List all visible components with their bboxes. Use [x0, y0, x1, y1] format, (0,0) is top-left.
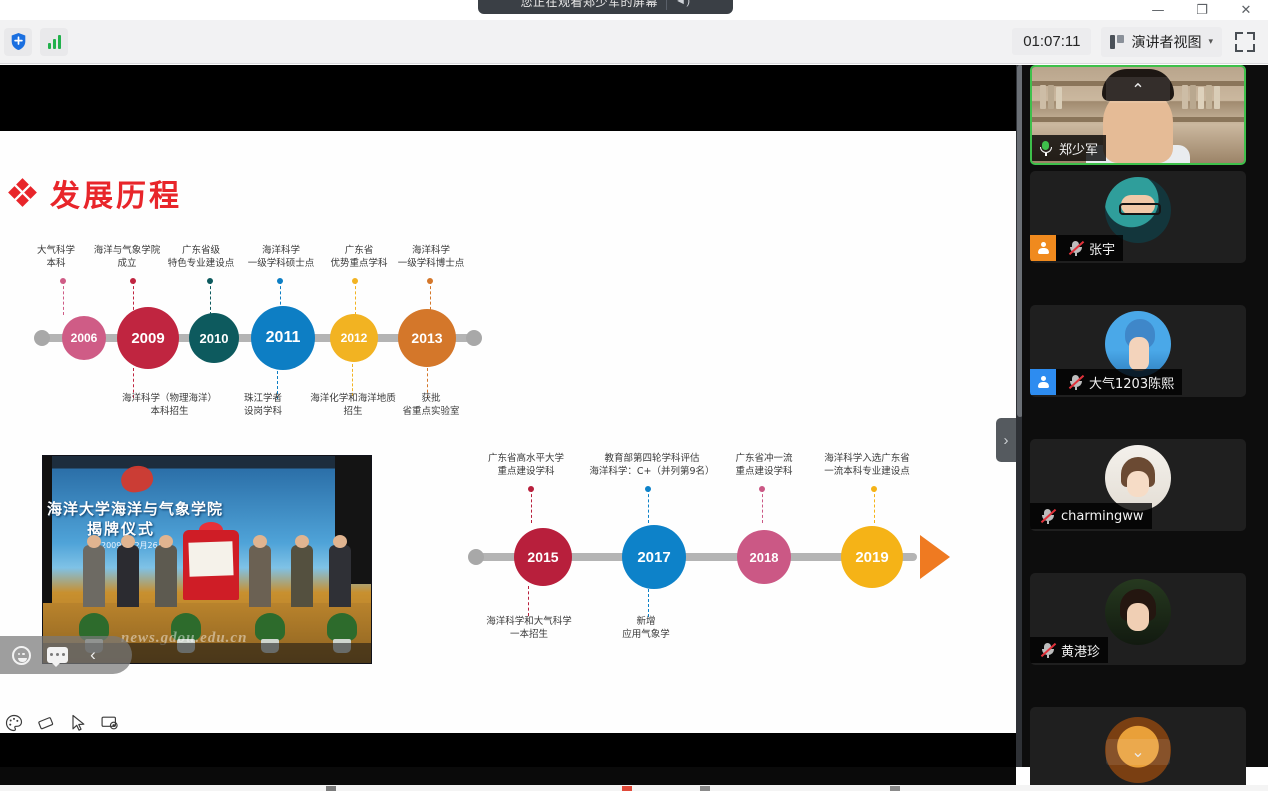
- eraser-icon[interactable]: [36, 713, 56, 733]
- participant-name-3: 大气1203陈熙: [1089, 373, 1174, 392]
- letterbox-top: [0, 65, 1016, 131]
- cohost-badge-icon: [1030, 369, 1056, 395]
- timeline-1-bottom-label-2: 珠江学者 设岗学科: [228, 393, 298, 419]
- timeline-1-top-label-1: 大气科学 本科: [26, 245, 86, 271]
- timeline-node-2013: 2013: [398, 309, 456, 367]
- letterbox-bottom: [0, 733, 1016, 767]
- shield-plus-icon: [10, 32, 27, 51]
- avatar-5: [1105, 579, 1171, 645]
- timeline-node-2010: 2010: [189, 313, 239, 363]
- screenshot-icon[interactable]: [100, 713, 120, 733]
- participant-namebar-5: 黄港珍: [1030, 637, 1108, 663]
- timeline-1-bottom-label-1: 海洋科学（物理海洋） 本科招生: [92, 393, 247, 419]
- signal-bars-icon: [48, 35, 61, 49]
- toolbar-right-group: 01:07:11 演讲者视图 ▾: [1012, 27, 1268, 57]
- timeline-1-top-label-4: 海洋科学 一级学科硕士点: [235, 245, 327, 271]
- timeline-1-top-label-6: 海洋科学 一级学科博士点: [385, 245, 477, 271]
- os-taskbar[interactable]: [0, 785, 1268, 791]
- restore-button[interactable]: ❐: [1180, 0, 1224, 20]
- chat-bubble-icon[interactable]: [46, 644, 68, 666]
- timeline-2-top-label-3: 广东省冲一流 重点建设学科: [718, 453, 810, 479]
- taskbar-icon-1[interactable]: [326, 786, 336, 791]
- participants-panel: ⌃ 郑少军 张宇 大气1203陈熙: [1022, 65, 1268, 767]
- participant-tile-6[interactable]: ⌄: [1030, 707, 1246, 791]
- timeline-node-2011: 2011: [251, 306, 315, 370]
- chevron-down-icon: ▾: [1208, 36, 1213, 47]
- floating-reaction-toolbar[interactable]: ‹: [0, 636, 132, 674]
- participant-name-1: 郑少军: [1059, 139, 1098, 158]
- toolbar-left-group: [0, 28, 68, 56]
- participant-namebar-1: 郑少军: [1032, 135, 1106, 161]
- timeline-node-2017: 2017: [622, 525, 686, 589]
- timeline-1-top-label-3: 广东省级 特色专业建设点: [155, 245, 247, 271]
- taskbar-icon-4[interactable]: [890, 786, 900, 791]
- timeline-2-arrow-head: [920, 535, 950, 579]
- ceremony-photo: 海洋大学海洋与气象学院 揭牌仪式 2009年12月26日 news.gdou.e…: [42, 455, 372, 664]
- timeline-node-2009: 2009: [117, 307, 179, 369]
- participant-namebar-2: 张宇: [1030, 235, 1123, 261]
- host-badge-icon: [1030, 235, 1056, 261]
- taskbar-icon-2[interactable]: [622, 786, 632, 791]
- participant-name-4: charmingww: [1061, 509, 1144, 524]
- timeline-node-2019: 2019: [841, 526, 903, 588]
- chevron-down-icon[interactable]: ⌄: [1106, 739, 1170, 765]
- timeline-1-bottom-label-4: 获批 省重点实验室: [385, 393, 477, 419]
- annotation-toolbar[interactable]: [4, 713, 120, 733]
- smiley-icon[interactable]: [10, 644, 32, 666]
- avatar-3: [1105, 311, 1171, 377]
- timeline-1-start-cap: [34, 330, 50, 346]
- meeting-window: 您正在观看郑少军的屏幕 ◄) — ❐ ✕ 01:07:11 演讲者视图: [0, 0, 1268, 791]
- chevron-right-icon: ›: [1004, 432, 1009, 449]
- view-mode-selector[interactable]: 演讲者视图 ▾: [1101, 27, 1222, 57]
- fullscreen-button[interactable]: [1232, 29, 1258, 55]
- diamond-bullet-icon: [10, 180, 36, 206]
- timeline-2-bottom-label-1: 海洋科学和大气科学 一本招生: [474, 616, 584, 642]
- security-button[interactable]: [4, 28, 32, 56]
- mic-muted-icon[interactable]: [1040, 508, 1055, 525]
- participant-name-5: 黄港珍: [1061, 641, 1100, 660]
- mic-muted-icon[interactable]: [1068, 374, 1083, 391]
- timeline-2-top-label-4: 海洋科学入选广东省 一流本科专业建设点: [808, 453, 926, 479]
- meeting-timer: 01:07:11: [1012, 28, 1091, 55]
- screen-share-banner-text: 您正在观看郑少军的屏幕: [520, 0, 658, 10]
- participant-name-2: 张宇: [1089, 239, 1115, 258]
- speaker-view-icon: [1110, 35, 1124, 49]
- screen-share-banner: 您正在观看郑少军的屏幕 ◄): [478, 0, 733, 14]
- timeline-node-2006: 2006: [62, 316, 106, 360]
- participant-tile-2[interactable]: 张宇: [1030, 171, 1246, 263]
- mic-muted-icon[interactable]: [1040, 642, 1055, 659]
- participant-namebar-4: charmingww: [1030, 503, 1152, 529]
- participant-tile-5[interactable]: 黄港珍: [1030, 573, 1246, 665]
- window-controls: — ❐ ✕: [1136, 0, 1268, 20]
- timeline-2-start-cap: [468, 549, 484, 565]
- network-status-button[interactable]: [40, 28, 68, 56]
- taskbar-icon-3[interactable]: [700, 786, 710, 791]
- avatar-4: [1105, 445, 1171, 511]
- palette-icon[interactable]: [4, 713, 24, 733]
- slide-title: 发展历程: [10, 171, 182, 215]
- participant-tile-3[interactable]: 大气1203陈熙: [1030, 305, 1246, 397]
- mic-muted-icon[interactable]: [1068, 240, 1083, 257]
- cursor-icon[interactable]: [68, 713, 88, 733]
- avatar-2: [1105, 177, 1171, 243]
- photo-banner-line1: 海洋大学海洋与气象学院: [47, 498, 267, 519]
- chevron-left-icon[interactable]: ‹: [82, 644, 104, 666]
- timeline-node-2015: 2015: [514, 528, 572, 586]
- participant-tile-1[interactable]: ⌃ 郑少军: [1030, 65, 1246, 165]
- timeline-1-end-cap: [466, 330, 482, 346]
- slide-title-text: 发展历程: [50, 171, 182, 215]
- mic-on-icon[interactable]: [1038, 140, 1053, 157]
- participant-tile-4[interactable]: charmingww: [1030, 439, 1246, 531]
- banner-divider: [666, 0, 667, 10]
- timeline-node-2012: 2012: [330, 314, 378, 362]
- chevron-up-icon[interactable]: ⌃: [1106, 77, 1170, 103]
- meeting-toolbar: 01:07:11 演讲者视图 ▾: [0, 20, 1268, 64]
- university-logo-icon: [119, 463, 156, 495]
- view-mode-label: 演讲者视图: [1131, 32, 1201, 52]
- volume-icon[interactable]: ◄): [675, 0, 691, 7]
- timeline-2-bottom-label-2: 新增 应用气象学: [606, 616, 686, 642]
- minimize-button[interactable]: —: [1136, 0, 1180, 20]
- presentation-slide: 发展历程 大气科学 本科 海洋与气象学院 成立 广东省级 特色专业建设点 海洋科…: [0, 131, 1016, 733]
- participant-namebar-3: 大气1203陈熙: [1030, 369, 1182, 395]
- timeline-node-2018: 2018: [737, 530, 791, 584]
- panel-collapse-button[interactable]: ›: [996, 418, 1016, 462]
- close-button[interactable]: ✕: [1224, 0, 1268, 20]
- timeline-2-top-label-1: 广东省高水平大学 重点建设学科: [472, 453, 580, 479]
- timeline-2-top-label-2: 教育部第四轮学科评估 海洋科学：C+（并列第9名）: [578, 453, 726, 479]
